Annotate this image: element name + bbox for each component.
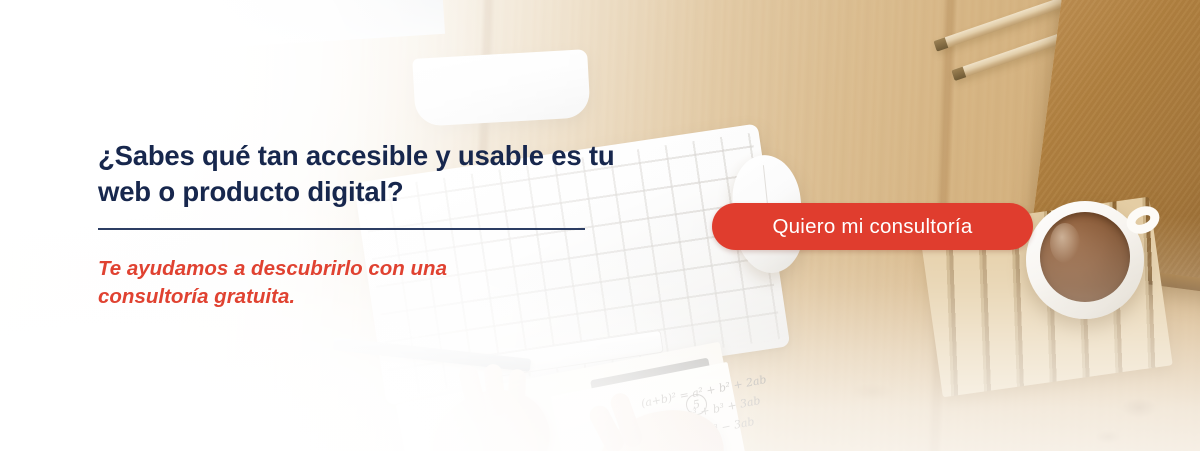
promo-banner: (a+b)² = a² + b² + 2ab (a+b)³ = a³ + b³ … bbox=[0, 0, 1200, 451]
banner-subheadline: Te ayudamos a descubrirlo con una consul… bbox=[98, 255, 498, 310]
cta-button-consultoria[interactable]: Quiero mi consultoría bbox=[712, 203, 1033, 250]
divider-rule bbox=[98, 228, 585, 230]
banner-content: ¿Sabes qué tan accesible y usable es tu … bbox=[0, 0, 1200, 451]
banner-headline: ¿Sabes qué tan accesible y usable es tu … bbox=[98, 138, 618, 210]
